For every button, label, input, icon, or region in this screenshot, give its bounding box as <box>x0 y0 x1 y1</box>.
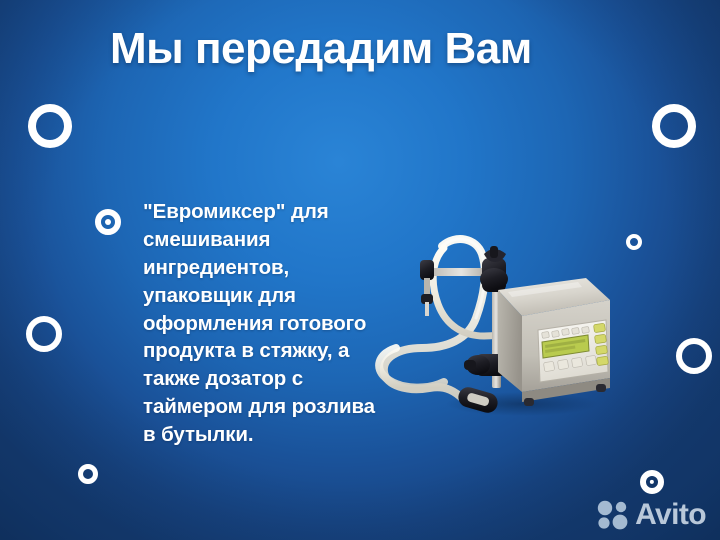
ring-small-right-icon <box>626 234 642 250</box>
avito-wordmark: Avito <box>635 500 706 530</box>
ring-mid-right-icon <box>676 338 712 374</box>
promo-slide: Мы передадим Вам "Евромиксер" для смешив… <box>0 0 720 540</box>
control-panel <box>538 320 608 382</box>
ring-top-right-icon <box>652 104 696 148</box>
avito-logo-icon <box>596 500 630 530</box>
slide-body-text: "Евромиксер" для смешивания ингредиентов… <box>143 198 375 449</box>
ring-bottom-left-icon <box>78 464 98 484</box>
machine-foot-right <box>596 384 606 392</box>
liquid-filling-machine-photo <box>372 232 612 427</box>
avito-watermark: Avito <box>596 500 706 530</box>
slide-title: Мы передадим Вам <box>110 24 532 73</box>
ring-top-left-icon <box>28 104 72 148</box>
bullet-block: "Евромиксер" для смешивания ингредиентов… <box>95 198 385 449</box>
dot-ring-bullet-icon <box>95 209 121 235</box>
ring-mid-left-icon <box>26 316 62 352</box>
dot-ring-bottom-right-icon <box>640 470 664 494</box>
machine-foot-left <box>524 398 534 406</box>
